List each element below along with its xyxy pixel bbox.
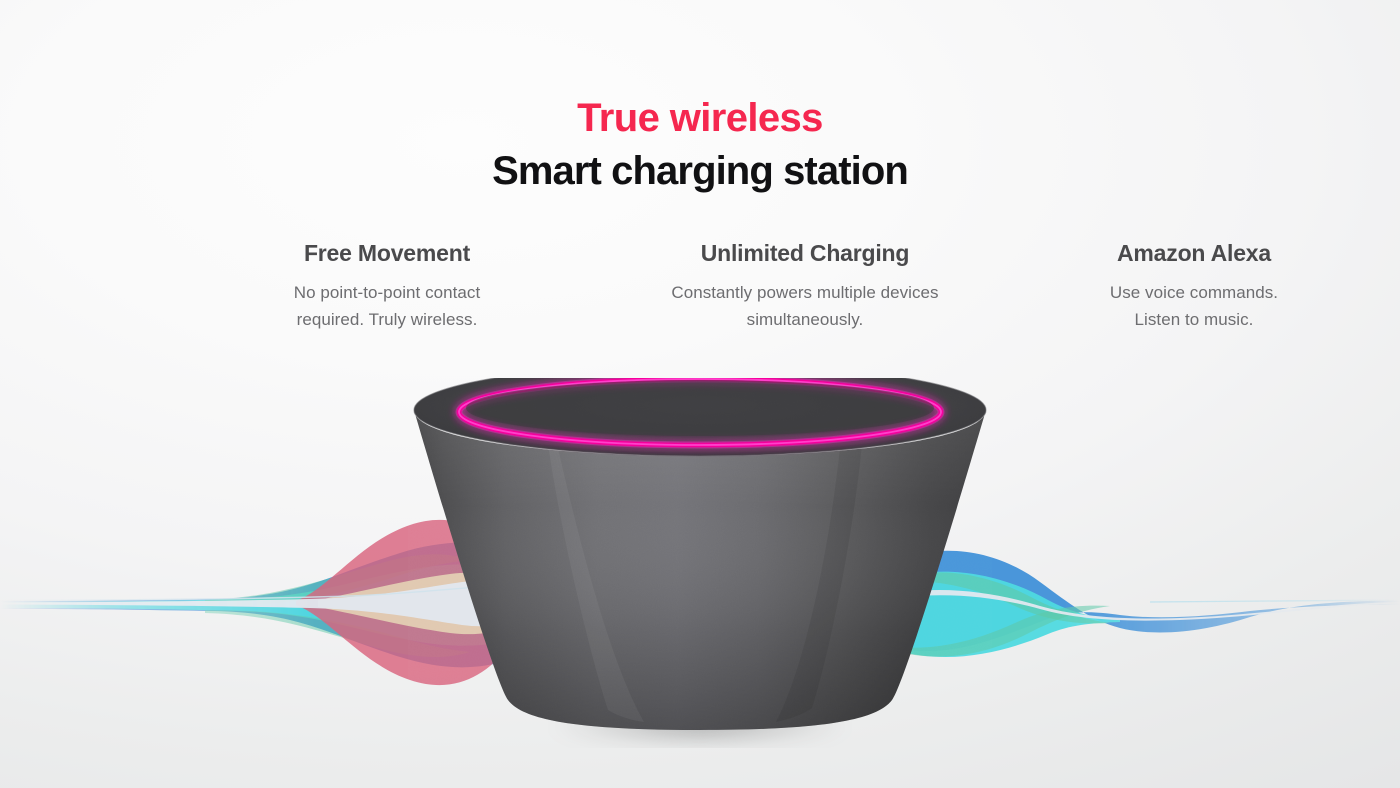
waveform-tail-right [1150,600,1400,602]
device-matte-grain [408,378,992,748]
feature-free-movement: Free Movement No point-to-point contact … [237,240,537,334]
feature-title: Unlimited Charging [615,240,995,268]
headline-eyebrow: True wireless [0,96,1400,142]
feature-columns: Free Movement No point-to-point contact … [0,240,1400,334]
feature-title: Free Movement [237,240,537,268]
feature-unlimited-charging: Unlimited Charging Constantly powers mul… [615,240,995,334]
hero-section: True wireless Smart charging station Fre… [0,0,1400,788]
headline-block: True wireless Smart charging station [0,96,1400,194]
feature-description: Use voice commands. Listen to music. [1064,279,1324,334]
feature-description: No point-to-point contact required. Trul… [237,279,537,334]
page-title: Smart charging station [0,149,1400,195]
feature-description: Constantly powers multiple devices simul… [615,279,995,334]
conical-wireless-charging-station [408,378,992,748]
feature-amazon-alexa: Amazon Alexa Use voice commands. Listen … [1064,240,1324,334]
feature-title: Amazon Alexa [1064,240,1324,268]
